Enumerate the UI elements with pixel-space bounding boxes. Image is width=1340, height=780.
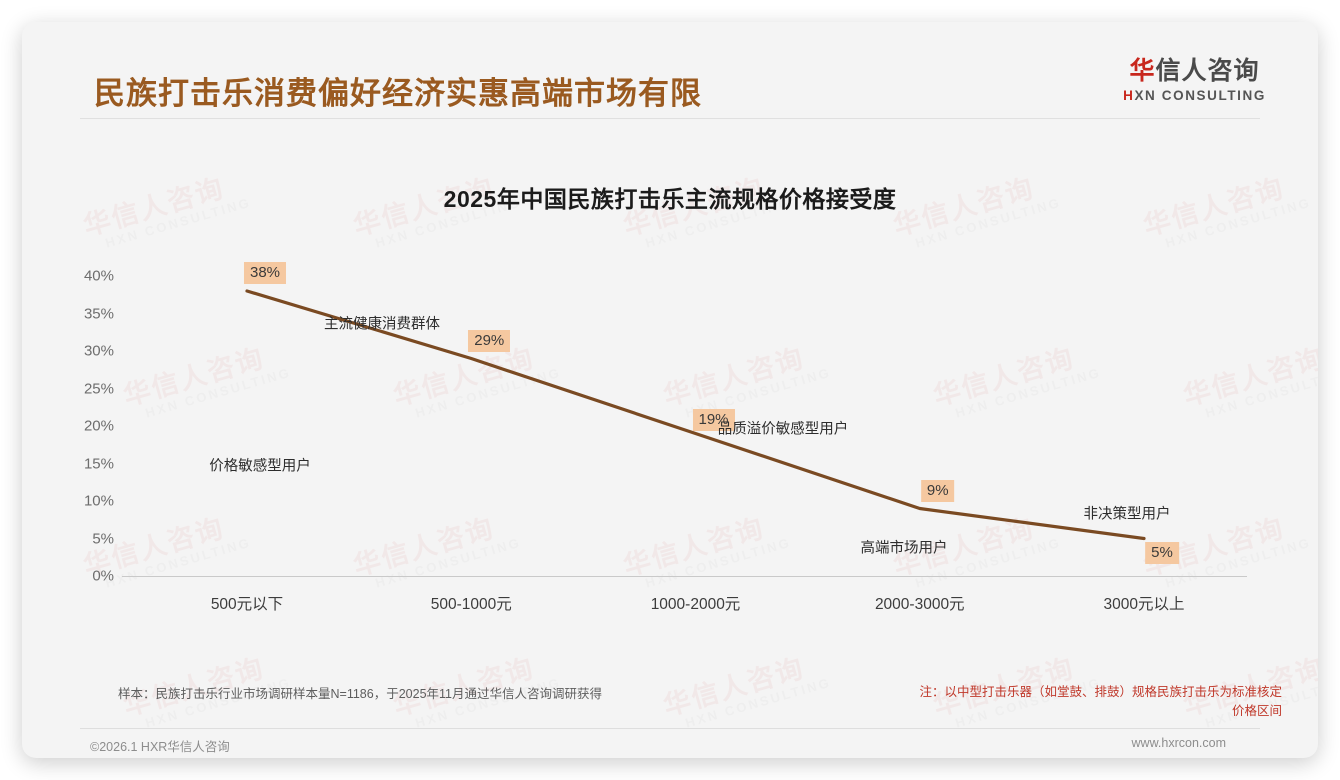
y-axis-tick: 25% <box>52 380 114 397</box>
logo-english: HXN CONSULTING <box>1123 88 1266 103</box>
x-axis-tick: 2000-3000元 <box>875 592 965 614</box>
logo-cn-rest: 信人咨询 <box>1156 57 1260 85</box>
chart-annotation: 主流健康消费群体 <box>324 313 440 334</box>
y-axis-tick: 30% <box>52 343 114 360</box>
header-divider <box>80 118 1260 119</box>
slide-card: 华信人咨询HXN CONSULTING华信人咨询HXN CONSULTING华信… <box>22 22 1318 758</box>
copyright-text: ©2026.1 HXR华信人咨询 <box>90 736 230 755</box>
page-title: 民族打击乐消费偏好经济实惠高端市场有限 <box>94 68 702 113</box>
chart-title: 2025年中国民族打击乐主流规格价格接受度 <box>22 180 1318 214</box>
brand-logo: 华信人咨询 HXN CONSULTING <box>1123 58 1266 103</box>
slide-header: 民族打击乐消费偏好经济实惠高端市场有限 华信人咨询 HXN CONSULTING <box>22 22 1318 118</box>
line-chart: 0%5%10%15%20%25%30%35%40%500元以下500-1000元… <box>22 22 1318 758</box>
y-axis-tick: 5% <box>52 530 114 547</box>
y-axis-tick: 0% <box>52 568 114 585</box>
x-axis-tick: 500元以下 <box>211 592 283 614</box>
data-point-label: 5% <box>1145 542 1179 564</box>
chart-annotation: 非决策型用户 <box>1084 503 1171 524</box>
logo-chinese: 华信人咨询 <box>1123 58 1266 86</box>
y-axis-tick: 15% <box>52 455 114 472</box>
logo-cn-red: 华 <box>1130 57 1156 85</box>
data-point-label: 29% <box>468 330 510 352</box>
standard-note: 注：以中型打击乐器（如堂鼓、排鼓）规格民族打击乐为标准核定 价格区间 <box>862 683 1282 722</box>
chart-annotation: 品质溢价敏感型用户 <box>718 418 849 439</box>
standard-note-line1: 注：以中型打击乐器（如堂鼓、排鼓）规格民族打击乐为标准核定 <box>862 683 1282 702</box>
chart-annotation: 高端市场用户 <box>861 537 948 558</box>
x-axis-tick: 3000元以上 <box>1104 592 1185 614</box>
x-axis-tick: 1000-2000元 <box>651 592 741 614</box>
y-axis-tick: 10% <box>52 493 114 510</box>
website-url: www.hxrcon.com <box>1132 736 1226 750</box>
chart-annotation: 价格敏感型用户 <box>209 455 311 476</box>
y-axis-tick: 40% <box>52 268 114 285</box>
standard-note-line2: 价格区间 <box>862 702 1282 721</box>
data-point-label: 9% <box>921 480 955 502</box>
logo-en-rest: XN CONSULTING <box>1134 88 1266 103</box>
data-point-label: 38% <box>244 262 286 284</box>
x-axis-tick: 500-1000元 <box>431 592 512 614</box>
chart-line-svg <box>22 22 1318 758</box>
y-axis-tick: 35% <box>52 305 114 322</box>
footer-divider <box>80 728 1260 729</box>
sample-note: 样本：民族打击乐行业市场调研样本量N=1186，于2025年11月通过华信人咨询… <box>118 683 602 702</box>
logo-en-red: H <box>1123 88 1134 103</box>
y-axis-tick: 20% <box>52 418 114 435</box>
